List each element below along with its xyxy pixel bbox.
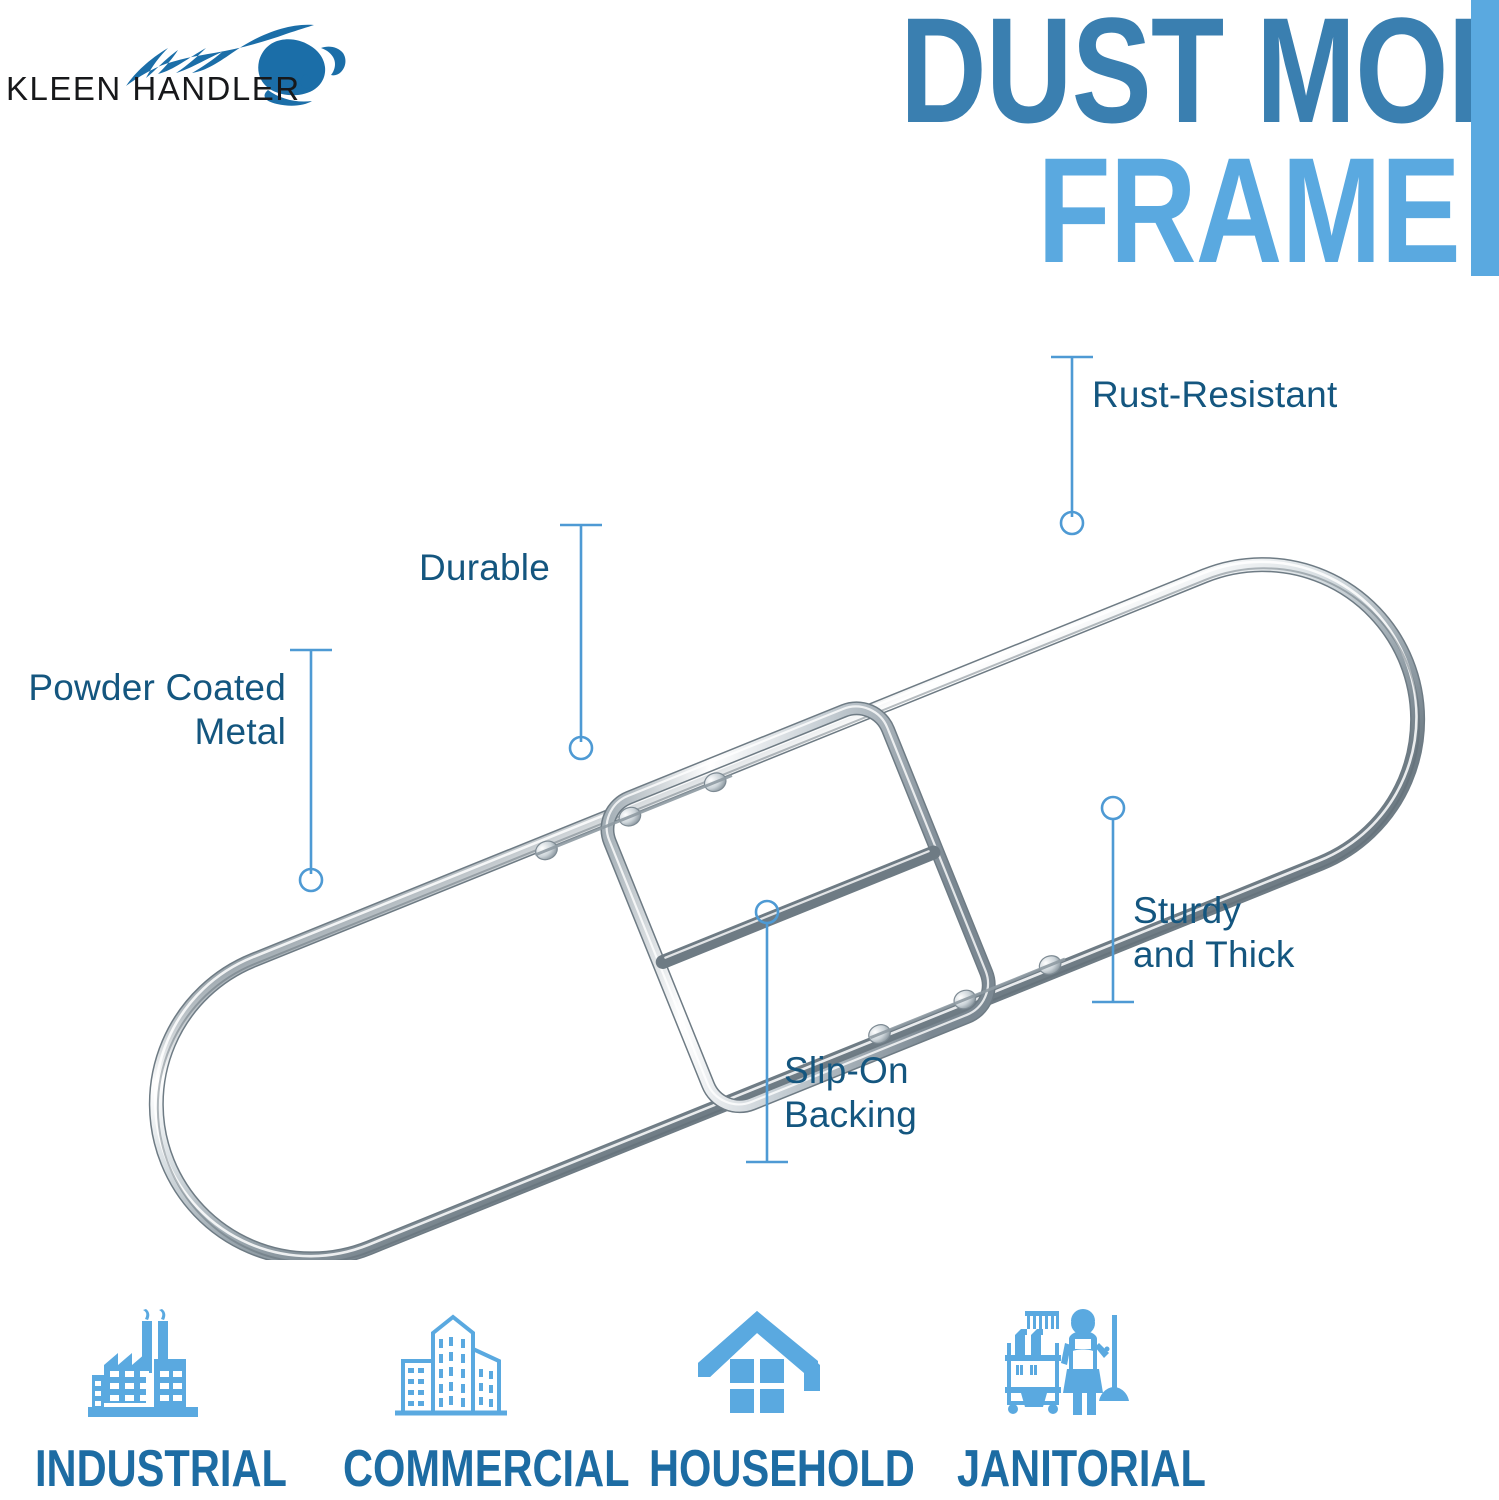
icon-holder <box>930 1290 1200 1425</box>
category-item-janitorial: JANITORIAL <box>930 1290 1200 1500</box>
callout-line-slip-on-backing <box>746 901 788 1162</box>
callout-line-powder-coated-metal <box>290 650 332 891</box>
callout-label-rust-resistant: Rust-Resistant <box>1092 373 1432 417</box>
category-item-industrial: INDUSTRIAL <box>8 1290 278 1500</box>
category-label-industrial: INDUSTRIAL <box>35 1439 251 1499</box>
page-title: DUST MOP FRAME <box>760 0 1460 275</box>
category-row: INDUSTRIAL <box>0 1290 1499 1500</box>
factory-icon <box>82 1303 204 1425</box>
category-item-household: HOUSEHOLD <box>622 1290 892 1500</box>
skyscraper-icon <box>387 1303 515 1425</box>
brand-logo: KLEEN HANDLER <box>0 8 400 128</box>
infographic-canvas: KLEEN HANDLER DUST MOP FRAME <box>0 0 1499 1500</box>
callout-label-durable: Durable <box>300 546 550 590</box>
icon-holder <box>316 1290 586 1425</box>
category-item-commercial: COMMERCIAL <box>316 1290 586 1500</box>
callout-label-powder-coated-metal: Powder Coated Metal <box>10 666 286 755</box>
callout-line-durable <box>560 525 602 759</box>
janitor-cart-icon <box>995 1303 1135 1425</box>
house-icon <box>692 1303 822 1425</box>
callout-line-sturdy-and-thick <box>1092 797 1134 1002</box>
icon-holder <box>8 1290 278 1425</box>
dust-mop-frame-illustration <box>0 300 1499 1260</box>
title-line-1: DUST MOP <box>900 0 1460 136</box>
title-line-2: FRAME <box>900 136 1460 276</box>
callout-label-slip-on-backing: Slip-On Backing <box>784 1049 1064 1138</box>
category-label-commercial: COMMERCIAL <box>343 1439 559 1499</box>
callout-label-sturdy-and-thick: Sturdy and Thick <box>1133 889 1433 978</box>
callout-line-rust-resistant <box>1051 357 1093 534</box>
product-diagram: Powder Coated Metal Durable Rust-Resista… <box>0 300 1499 1260</box>
brand-name: KLEEN HANDLER <box>6 70 301 108</box>
category-label-janitorial: JANITORIAL <box>957 1439 1173 1499</box>
title-accent-bar <box>1471 0 1499 276</box>
icon-holder <box>622 1290 892 1425</box>
category-label-household: HOUSEHOLD <box>649 1439 865 1499</box>
